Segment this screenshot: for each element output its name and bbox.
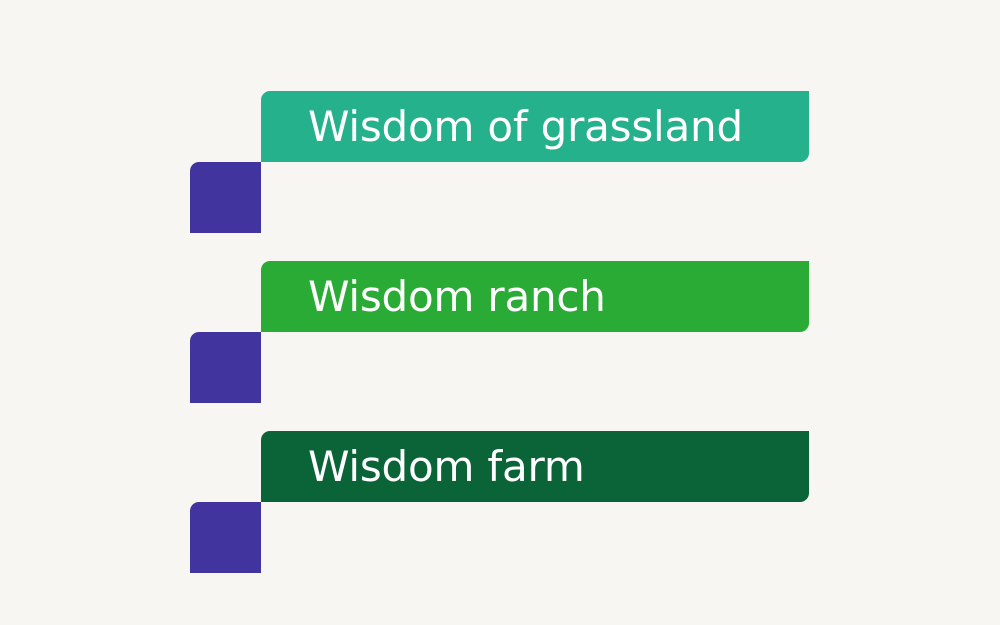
purple-notch-square [190,502,261,573]
label-bar-text: Wisdom farm [308,446,585,488]
label-bar[interactable]: Wisdom of grassland [261,91,809,162]
label-bar-text: Wisdom of grassland [308,106,743,148]
label-bar[interactable]: Wisdom ranch [261,261,809,332]
purple-notch-square [190,162,261,233]
purple-notch-square [190,332,261,403]
infographic-canvas: Wisdom of grasslandWisdom ranchWisdom fa… [0,0,1000,625]
label-bar-text: Wisdom ranch [308,276,606,318]
label-bar[interactable]: Wisdom farm [261,431,809,502]
